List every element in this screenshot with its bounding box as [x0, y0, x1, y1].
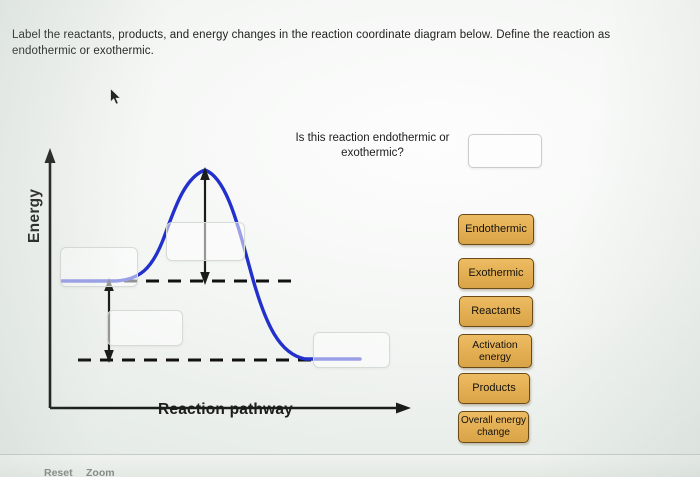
activation-energy-drop-target[interactable]	[166, 222, 245, 261]
page-background: Label the reactants, products, and energ…	[0, 0, 700, 477]
tile-exothermic[interactable]: Exothermic	[458, 258, 534, 289]
tile-overall-energy-change[interactable]: Overall energy change	[458, 411, 529, 443]
answer-input-box[interactable]	[468, 134, 542, 168]
zoom-button[interactable]: Zoom	[86, 467, 115, 477]
y-axis-label: Energy	[26, 189, 44, 243]
products-drop-target[interactable]	[313, 332, 390, 368]
x-axis-label: Reaction pathway	[158, 401, 293, 419]
reactants-drop-target[interactable]	[60, 247, 138, 287]
mouse-cursor	[110, 88, 122, 106]
bottom-toolbar: Reset Zoom	[0, 454, 700, 477]
y-axis	[45, 148, 56, 408]
tile-products[interactable]: Products	[458, 373, 530, 404]
instruction-text: Label the reactants, products, and energ…	[12, 27, 672, 59]
tile-activation-energy[interactable]: Activation energy	[458, 334, 532, 368]
tile-reactants[interactable]: Reactants	[459, 296, 533, 327]
reset-button[interactable]: Reset	[44, 467, 73, 477]
overall-energy-change-drop-target[interactable]	[107, 310, 183, 346]
tile-endothermic[interactable]: Endothermic	[458, 214, 534, 245]
